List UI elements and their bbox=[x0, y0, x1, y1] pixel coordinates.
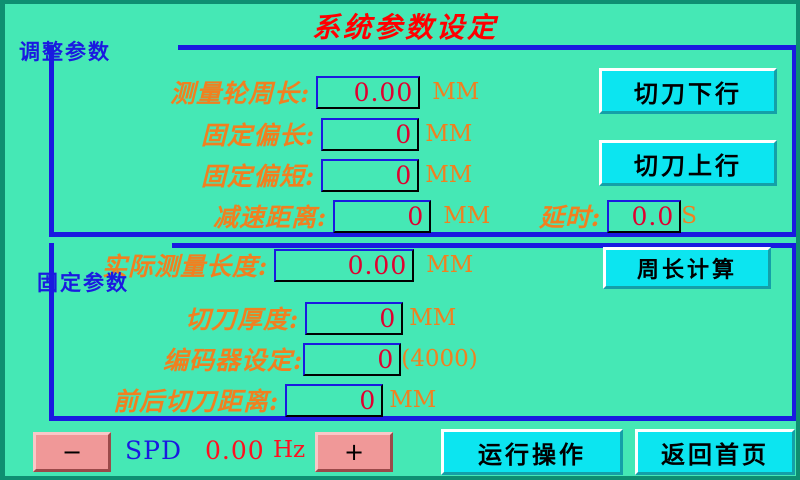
row-fixed-shorter: 固定偏短: 0 MM bbox=[201, 157, 472, 193]
row-actual-length: 实际测量长度: 0.00 MM bbox=[102, 247, 473, 283]
label-decel-distance: 减速距离: bbox=[213, 198, 327, 234]
label-delay: 延时: bbox=[539, 198, 601, 234]
input-knife-thickness[interactable]: 0 bbox=[305, 302, 403, 335]
row-knife-thickness: 切刀厚度: 0 MM bbox=[185, 300, 456, 336]
hmi-screen: 系统参数设定 调整参数 测量轮周长: 0.00 MM 固定偏长: 0 MM 固定… bbox=[0, 0, 800, 480]
speed-value: 0.00 bbox=[205, 436, 265, 465]
row-wheel-circumference: 测量轮周长: 0.00 MM bbox=[170, 74, 479, 110]
unit-wheel-circumference: MM bbox=[432, 79, 479, 105]
input-fixed-longer[interactable]: 0 bbox=[321, 118, 419, 151]
input-decel-distance[interactable]: 0 bbox=[333, 200, 431, 233]
unit-fixed-shorter: MM bbox=[425, 162, 472, 188]
unit-knife-thickness: MM bbox=[409, 305, 456, 331]
speed-label: SPD bbox=[125, 436, 182, 465]
unit-actual-length: MM bbox=[426, 252, 473, 278]
knife-down-button[interactable]: 切刀下行 bbox=[599, 68, 777, 114]
run-operation-button[interactable]: 运行操作 bbox=[441, 429, 623, 475]
label-knife-gap: 前后切刀距离: bbox=[113, 382, 279, 418]
label-wheel-circumference: 测量轮周长: bbox=[170, 74, 310, 110]
input-wheel-circumference[interactable]: 0.00 bbox=[316, 76, 420, 109]
input-knife-gap[interactable]: 0 bbox=[285, 384, 383, 417]
label-fixed-longer: 固定偏长: bbox=[201, 116, 315, 152]
row-fixed-longer: 固定偏长: 0 MM bbox=[201, 116, 472, 152]
unit-fixed-longer: MM bbox=[425, 121, 472, 147]
row-encoder-setting: 编码器设定: 0 (4000) bbox=[163, 341, 478, 377]
unit-delay: S bbox=[681, 203, 697, 229]
knife-up-button[interactable]: 切刀上行 bbox=[599, 140, 777, 186]
speed-unit: Hz bbox=[273, 437, 305, 463]
unit-knife-gap: MM bbox=[389, 387, 436, 413]
unit-decel-distance: MM bbox=[443, 203, 490, 229]
label-encoder-setting: 编码器设定: bbox=[163, 341, 303, 377]
input-fixed-shorter[interactable]: 0 bbox=[321, 159, 419, 192]
speed-decrease-button[interactable]: − bbox=[33, 432, 111, 472]
return-home-button[interactable]: 返回首页 bbox=[635, 429, 795, 475]
input-encoder-setting[interactable]: 0 bbox=[303, 343, 401, 376]
section-label-adjust: 调整参数 bbox=[19, 36, 111, 66]
row-knife-gap: 前后切刀距离: 0 MM bbox=[113, 382, 436, 418]
section-label-fixed: 固定参数 bbox=[37, 267, 129, 297]
input-actual-length[interactable]: 0.00 bbox=[274, 249, 414, 282]
label-knife-thickness: 切刀厚度: bbox=[185, 300, 299, 336]
panel-fixed-tag-mask bbox=[54, 238, 172, 250]
row-decel-distance: 减速距离: 0 MM bbox=[213, 198, 490, 234]
row-delay: 延时: 0.0 S bbox=[539, 198, 697, 234]
unit-encoder-setting: (4000) bbox=[401, 346, 477, 372]
speed-increase-button[interactable]: + bbox=[315, 432, 393, 472]
circumference-calc-button[interactable]: 周长计算 bbox=[603, 247, 771, 289]
label-fixed-shorter: 固定偏短: bbox=[201, 157, 315, 193]
input-delay[interactable]: 0.0 bbox=[607, 200, 681, 233]
